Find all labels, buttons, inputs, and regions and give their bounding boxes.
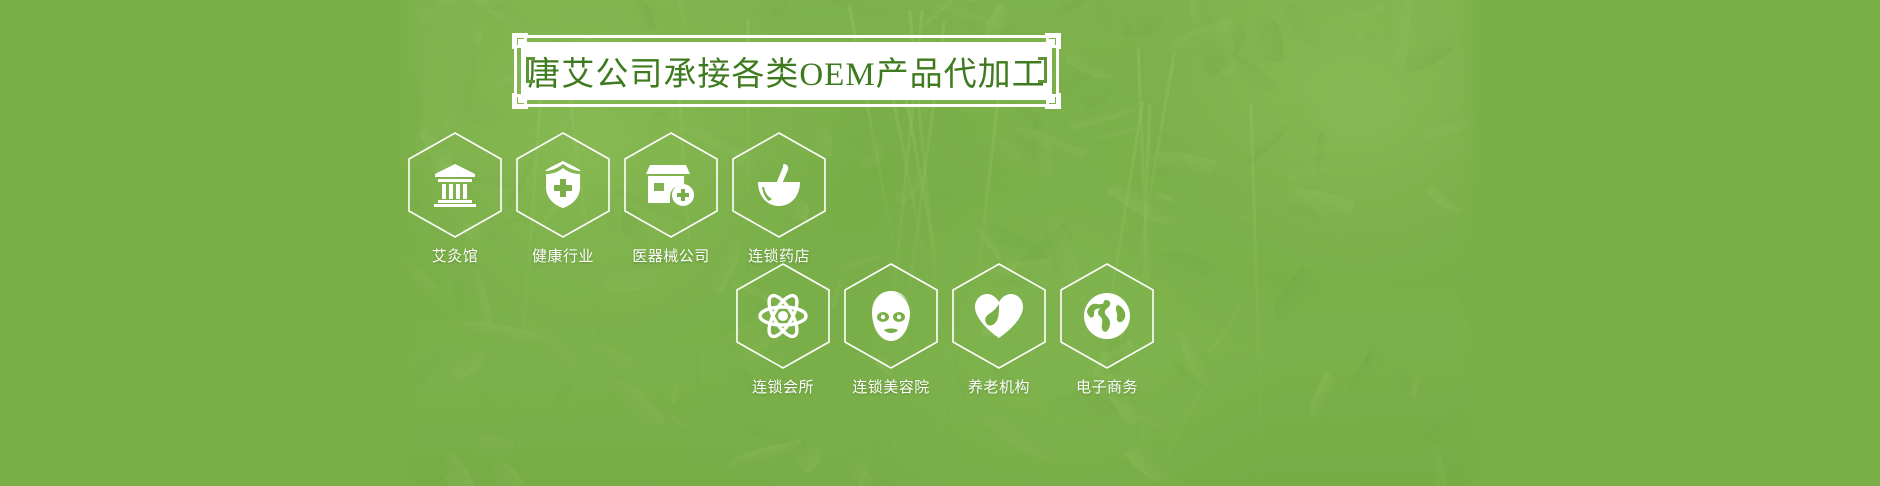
- fret-corner-bottom-left-icon: [512, 79, 542, 109]
- hex-outline-yanglaojigou: [951, 262, 1047, 370]
- leaf-blade: [673, 0, 693, 39]
- leaf-blade: [1426, 179, 1467, 218]
- leaf-blade: [516, 314, 581, 379]
- leaf-blade: [395, 341, 450, 403]
- hex-outline-liansuomeirongyuan: [843, 262, 939, 370]
- leaf-blade: [766, 0, 791, 17]
- leaf-blade: [632, 0, 656, 31]
- hex-outline-yiqixiegongsi: [623, 131, 719, 239]
- leaf-blade: [1264, 267, 1322, 330]
- hex-item-jiankangxingye[interactable]: 健康行业: [508, 131, 618, 266]
- hex-label: 艾灸馆: [432, 245, 479, 266]
- leaf-blade: [1452, 428, 1483, 469]
- leaf-blade: [1399, 29, 1460, 73]
- hex-item-liansuoyaodian[interactable]: 连锁药店: [724, 131, 834, 266]
- hex-item-yanglaojigou[interactable]: 养老机构: [944, 262, 1054, 397]
- oem-promo-banner: 唐艾公司承接各类OEM产品代加工: [0, 0, 1880, 486]
- hex-label: 电子商务: [1076, 376, 1138, 397]
- leaf-blade: [1412, 397, 1464, 438]
- leaf-blade: [395, 72, 424, 132]
- industry-hex-row-1: 艾灸馆: [400, 131, 832, 266]
- hex-label: 连锁会所: [752, 376, 814, 397]
- leaf-blade: [832, 0, 893, 22]
- leaf-blade: [666, 381, 679, 402]
- leaf-blade: [468, 430, 515, 467]
- hex-label: 连锁美容院: [852, 376, 930, 397]
- leaf-blade: [1254, 17, 1284, 62]
- leaf-blade: [1084, 0, 1111, 31]
- leaf-blade: [1283, 0, 1329, 52]
- leaf-blade: [1057, 0, 1093, 12]
- leaf-blade: [1481, 163, 1485, 206]
- bracket-right-icon: [1033, 57, 1047, 83]
- page-title: 唐艾公司承接各类OEM产品代加工: [527, 47, 1045, 95]
- hex-item-aijiuguan[interactable]: 艾灸馆: [400, 131, 510, 266]
- hex-outline-liansuoyaodian: [731, 131, 827, 239]
- hex-item-liansuohuisuo[interactable]: 连锁会所: [728, 262, 838, 397]
- leaf-blade: [466, 91, 509, 132]
- mortar-pestle-icon: [753, 159, 805, 211]
- fret-corner-bottom-right-icon: [1031, 79, 1061, 109]
- plaque-inner: 唐艾公司承接各类OEM产品代加工: [521, 42, 1052, 100]
- hex-label: 养老机构: [968, 376, 1030, 397]
- hex-item-dianzishangwu[interactable]: 电子商务: [1052, 262, 1162, 397]
- leaf-blade: [445, 342, 491, 382]
- leaf-blade: [584, 336, 634, 375]
- leaf-blade: [1284, 93, 1338, 154]
- hex-outline-dianzishangwu: [1059, 262, 1155, 370]
- leaf-blade: [1420, 108, 1482, 140]
- leaf-blade: [649, 110, 669, 125]
- atom-flower-icon: [757, 290, 809, 342]
- leaf-blade: [1164, 388, 1208, 458]
- hex-outline-aijiuguan: [407, 131, 503, 239]
- leaf-blade: [546, 381, 579, 426]
- leaf-blade: [1204, 296, 1248, 353]
- title-plaque: 唐艾公司承接各类OEM产品代加工: [514, 35, 1059, 107]
- leaf-blade: [1123, 437, 1174, 486]
- store-plus-icon: [645, 159, 697, 211]
- heart-icon: [973, 290, 1025, 342]
- leaf-blade: [1303, 370, 1342, 422]
- facial-mask-icon: [865, 290, 917, 342]
- industry-hex-row-2: 连锁会所: [728, 262, 1160, 397]
- globe-icon: [1081, 290, 1133, 342]
- bracket-left-icon: [526, 57, 540, 83]
- leaf-blade: [1429, 444, 1450, 486]
- hex-label: 医器械公司: [632, 245, 710, 266]
- hex-item-liansuomeirongyuan[interactable]: 连锁美容院: [836, 262, 946, 397]
- leaf-blade: [556, 479, 598, 486]
- bank-temple-icon: [429, 159, 481, 211]
- shield-cross-icon: [537, 159, 589, 211]
- leaf-blade: [1168, 360, 1190, 384]
- hex-label: 健康行业: [532, 245, 594, 266]
- leaf-blade: [1227, 211, 1252, 226]
- leaf-blade: [1356, 25, 1375, 45]
- leaf-blade: [1447, 268, 1485, 314]
- leaf-blade: [1122, 7, 1166, 36]
- leaf-blade: [937, 179, 972, 201]
- hex-item-yiqixiegongsi[interactable]: 医器械公司: [616, 131, 726, 266]
- hex-outline-jiankangxingye: [515, 131, 611, 239]
- hex-outline-liansuohuisuo: [735, 262, 831, 370]
